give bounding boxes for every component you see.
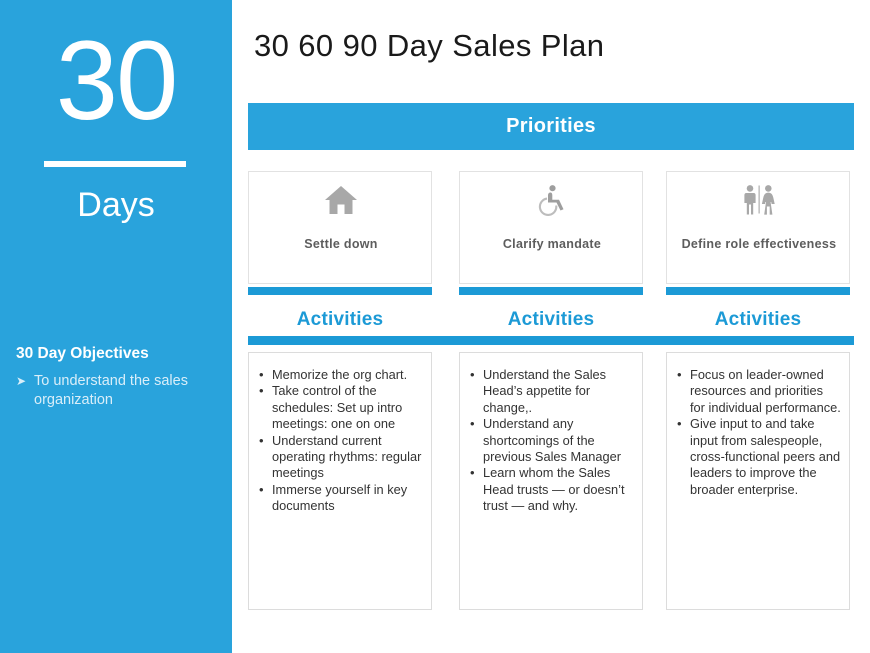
page-title: 30 60 90 Day Sales Plan [254,26,604,66]
list-item-text: Understand any shortcomings of the previ… [483,416,621,464]
bullet-dot-icon: • [259,383,264,399]
activities-divider-bar [248,336,854,345]
card-accent-bar [666,287,850,295]
priorities-banner-label: Priorities [506,115,596,138]
bullet-list: • Memorize the org chart. • Take control… [255,367,423,515]
wheelchair-icon [460,184,644,216]
priority-column-3: Define role effectiveness Activities [666,171,850,332]
priority-column-1: Settle down Activities [248,171,432,332]
list-item-text: Immerse yourself in key documents [272,482,407,513]
list-item: • Memorize the org chart. [255,367,423,383]
bullet-dot-icon: • [470,416,475,432]
card-accent-bar [248,287,432,295]
objectives-list: ➤ To understand the sales organization [16,372,221,410]
list-item: • Focus on leader-owned resources and pr… [673,367,841,416]
priority-label: Settle down [257,236,425,253]
bullet-dot-icon: • [677,367,682,383]
day-unit-label: Days [0,184,232,226]
bullet-dot-icon: • [259,433,264,449]
activities-heading: Activities [459,308,643,332]
list-item-text: Give input to and take input from salesp… [690,416,840,497]
sidebar: 30 Days 30 Day Objectives ➤ To understan… [0,0,232,653]
list-item-text: Understand the Sales Head’s appetite for… [483,367,606,415]
bullet-dot-icon: • [259,367,264,383]
priority-label: Define role effectiveness [675,236,843,253]
bullet-dot-icon: • [470,465,475,481]
bullet-dot-icon: • [677,416,682,432]
objective-item: ➤ To understand the sales organization [16,372,221,410]
activities-heading: Activities [666,308,850,332]
list-item-text: Focus on leader-owned resources and prio… [690,367,841,415]
objective-text: To understand the sales organization [34,373,188,408]
bullet-dot-icon: • [470,367,475,383]
slide-canvas: 30 Days 30 Day Objectives ➤ To understan… [0,0,870,653]
bullet-list: • Focus on leader-owned resources and pr… [673,367,841,498]
priority-card[interactable]: Settle down [248,171,432,284]
priority-label: Clarify mandate [468,236,636,253]
list-item-text: Understand current operating rhythms: re… [272,433,421,481]
bullet-dot-icon: • [259,482,264,498]
list-item: • Immerse yourself in key documents [255,482,423,515]
arrow-bullet-icon: ➤ [16,372,26,391]
activities-box-3: • Focus on leader-owned resources and pr… [666,352,850,610]
day-number: 30 [0,22,232,140]
list-item: • Give input to and take input from sale… [673,416,841,498]
list-item: • Understand current operating rhythms: … [255,433,423,482]
list-item: • Understand any shortcomings of the pre… [466,416,634,465]
list-item: • Learn whom the Sales Head trusts — or … [466,465,634,514]
priority-card[interactable]: Clarify mandate [459,171,643,284]
priority-column-2: Clarify mandate Activities [459,171,643,332]
bullet-list: • Understand the Sales Head’s appetite f… [466,367,634,515]
list-item-text: Learn whom the Sales Head trusts — or do… [483,465,625,513]
restroom-people-icon [667,184,851,216]
list-item: • Take control of the schedules: Set up … [255,383,423,432]
list-item-text: Take control of the schedules: Set up in… [272,383,402,431]
home-icon [249,184,433,216]
card-accent-bar [459,287,643,295]
list-item-text: Memorize the org chart. [272,367,407,382]
activities-box-1: • Memorize the org chart. • Take control… [248,352,432,610]
content-area: 30 60 90 Day Sales Plan Priorities Settl… [232,0,870,653]
priorities-banner: Priorities [248,103,854,150]
activities-heading: Activities [248,308,432,332]
priority-card[interactable]: Define role effectiveness [666,171,850,284]
day-divider-rule [44,161,186,167]
activities-box-2: • Understand the Sales Head’s appetite f… [459,352,643,610]
list-item: • Understand the Sales Head’s appetite f… [466,367,634,416]
objectives-heading: 30 Day Objectives [16,344,226,364]
